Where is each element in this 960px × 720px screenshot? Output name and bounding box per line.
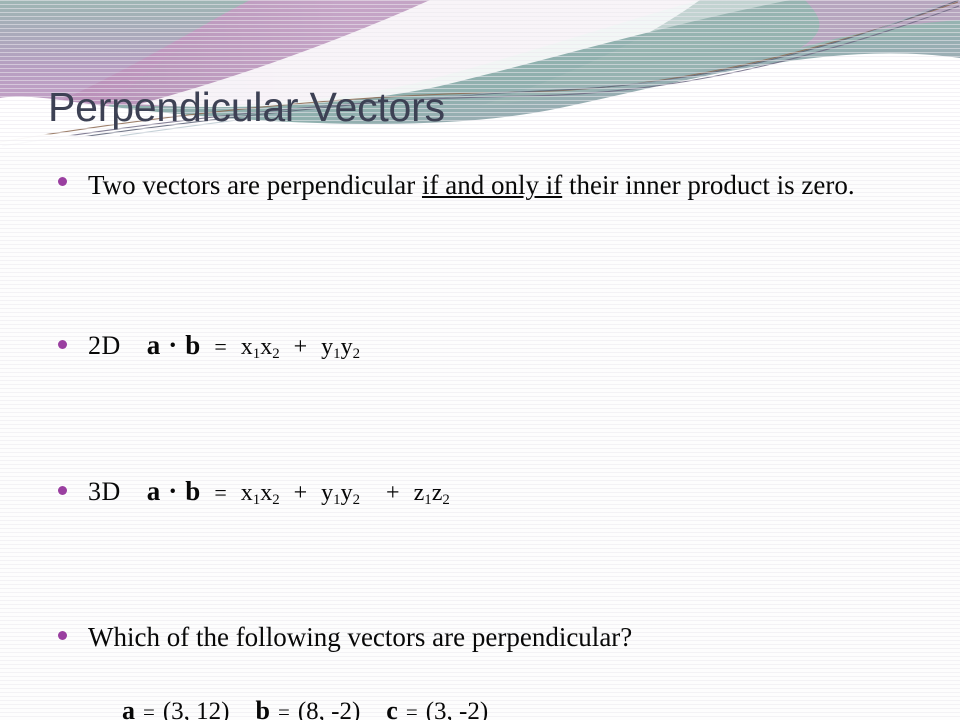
formula-2d-term-x: x1x2	[241, 330, 280, 371]
formula-2d-vector-b: b	[185, 328, 200, 362]
formula-3d-vector-b: b	[185, 474, 200, 508]
formula-3d-plus-1: +	[294, 476, 308, 510]
vector-c-name: c	[386, 696, 398, 720]
formula-3d-term-y: y1y2	[321, 476, 360, 517]
definition-text-before: Two vectors are perpendicular	[88, 170, 422, 200]
formula-2d-plus: +	[294, 330, 308, 364]
formula-2d-term-y: y1y2	[321, 330, 360, 371]
formula-3d-dot-operator: ·	[168, 474, 177, 508]
bullet-formula-2d: 2D a · b = x1x2 + y1y2	[0, 328, 960, 371]
slide-body: Two vectors are perpendicular if and onl…	[0, 150, 960, 386]
formula-3d-text: 3D a · b = x1x2 + y1y2 + z1z2	[88, 474, 450, 517]
formula-3d-vector-a: a	[147, 474, 161, 508]
formula-2d-dimension: 2D	[88, 329, 121, 363]
bullet-dot-icon	[58, 486, 67, 495]
formula-3d-equals: =	[214, 476, 226, 510]
formula-2d-equals: =	[214, 330, 226, 364]
question-text: Which of the following vectors are perpe…	[88, 618, 632, 656]
bullet-question: Which of the following vectors are perpe…	[0, 618, 960, 656]
bullet-formula-3d: 3D a · b = x1x2 + y1y2 + z1z2	[0, 474, 960, 517]
vector-a-name: a	[122, 696, 135, 720]
formula-3d-dimension: 3D	[88, 475, 121, 509]
slide-title: Perpendicular Vectors	[48, 84, 445, 131]
formula-3d-plus-2: +	[386, 476, 400, 510]
bullet-dot-icon	[58, 631, 67, 640]
formula-2d-vector-a: a	[147, 328, 161, 362]
bullet-definition: Two vectors are perpendicular if and onl…	[0, 164, 960, 206]
formula-3d-term-x: x1x2	[241, 476, 280, 517]
vector-b-value: (8, -2)	[298, 698, 360, 720]
vector-a-equals: =	[143, 700, 155, 720]
vector-b-equals: =	[278, 700, 290, 720]
vector-a-value: (3, 12)	[163, 698, 230, 720]
bullet-dot-icon	[58, 340, 67, 349]
vector-c-equals: =	[406, 700, 418, 720]
vector-b-name: b	[256, 696, 270, 720]
formula-2d-text: 2D a · b = x1x2 + y1y2	[88, 328, 360, 371]
bullet-definition-text: Two vectors are perpendicular if and onl…	[88, 164, 855, 206]
definition-underlined-phrase: if and only if	[422, 170, 562, 200]
bullet-dot-icon	[58, 177, 67, 186]
vector-c-value: (3, -2)	[426, 698, 488, 720]
vector-examples-line-1: a=(3, 12)b=(8, -2)c=(3, -2)	[0, 694, 960, 720]
presentation-slide: Perpendicular Vectors Two vectors are pe…	[0, 0, 960, 720]
formula-2d-dot-operator: ·	[168, 328, 177, 362]
formula-3d-term-z: z1z2	[414, 476, 450, 517]
definition-text-after: their inner product is zero.	[562, 170, 854, 200]
